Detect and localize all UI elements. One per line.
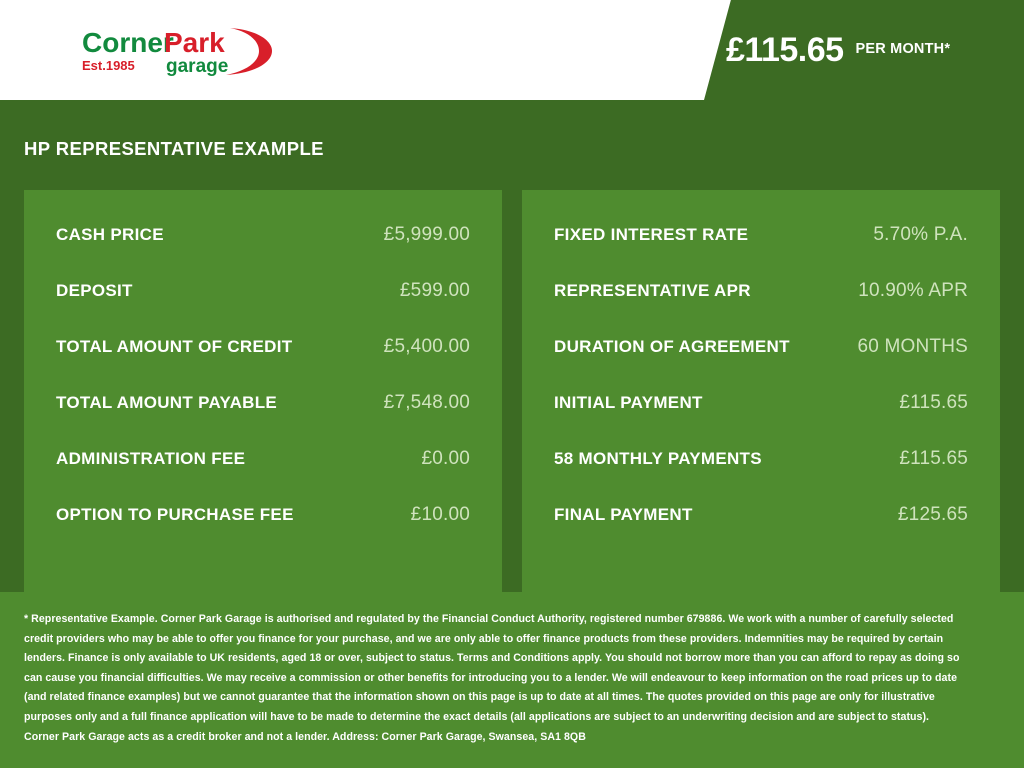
finance-left-row: OPTION TO PURCHASE FEE£10.00 bbox=[56, 504, 470, 560]
logo-word-garage: garage bbox=[166, 56, 228, 77]
finance-right-row: FINAL PAYMENT£125.65 bbox=[554, 504, 968, 560]
corner-park-garage-logo[interactable]: Corner Park Est.1985 garage bbox=[80, 22, 280, 80]
finance-right-row-label: INITIAL PAYMENT bbox=[554, 393, 703, 413]
finance-right-row-label: REPRESENTATIVE APR bbox=[554, 281, 751, 301]
finance-right-row: INITIAL PAYMENT£115.65 bbox=[554, 392, 968, 448]
finance-right-row-value: 5.70% P.A. bbox=[873, 224, 968, 246]
monthly-price-band: £115.65 PER MONTH* bbox=[704, 0, 1024, 100]
finance-right-row-label: 58 MONTHLY PAYMENTS bbox=[554, 449, 762, 469]
finance-card-left: CASH PRICE£5,999.00DEPOSIT£599.00TOTAL A… bbox=[24, 190, 502, 594]
page-footer: * Representative Example. Corner Park Ga… bbox=[0, 592, 1024, 768]
finance-left-row: CASH PRICE£5,999.00 bbox=[56, 224, 470, 280]
finance-right-row-value: 10.90% APR bbox=[858, 280, 968, 302]
finance-right-row-label: FIXED INTEREST RATE bbox=[554, 225, 748, 245]
logo-graphic: Corner Park Est.1985 garage bbox=[80, 22, 280, 80]
representative-example-disclaimer: * Representative Example. Corner Park Ga… bbox=[24, 610, 964, 747]
finance-left-row-label: ADMINISTRATION FEE bbox=[56, 449, 245, 469]
finance-left-row-value: £0.00 bbox=[421, 448, 470, 470]
finance-right-row-value: £115.65 bbox=[899, 448, 968, 470]
finance-left-row-value: £5,400.00 bbox=[384, 336, 470, 358]
logo-swoosh-icon bbox=[226, 28, 272, 75]
finance-right-row-value: £125.65 bbox=[898, 504, 968, 526]
page-header: Corner Park Est.1985 garage £115.65 PER … bbox=[0, 0, 1024, 100]
monthly-price-amount: £115.65 bbox=[726, 33, 844, 67]
finance-left-row: DEPOSIT£599.00 bbox=[56, 280, 470, 336]
finance-left-row-label: TOTAL AMOUNT OF CREDIT bbox=[56, 337, 292, 357]
finance-right-row-value: £115.65 bbox=[899, 392, 968, 414]
finance-left-row: TOTAL AMOUNT OF CREDIT£5,400.00 bbox=[56, 336, 470, 392]
finance-left-row-label: CASH PRICE bbox=[56, 225, 164, 245]
finance-left-row-label: OPTION TO PURCHASE FEE bbox=[56, 505, 294, 525]
finance-card-right: FIXED INTEREST RATE5.70% P.A.REPRESENTAT… bbox=[522, 190, 1000, 594]
finance-left-row-label: TOTAL AMOUNT PAYABLE bbox=[56, 393, 277, 413]
finance-left-row-value: £5,999.00 bbox=[384, 224, 470, 246]
finance-right-row: REPRESENTATIVE APR10.90% APR bbox=[554, 280, 968, 336]
finance-details-cards: CASH PRICE£5,999.00DEPOSIT£599.00TOTAL A… bbox=[24, 190, 1000, 594]
page-title: HP REPRESENTATIVE EXAMPLE bbox=[24, 100, 1000, 160]
finance-left-row: TOTAL AMOUNT PAYABLE£7,548.00 bbox=[56, 392, 470, 448]
finance-right-row: FIXED INTEREST RATE5.70% P.A. bbox=[554, 224, 968, 280]
finance-left-row-value: £599.00 bbox=[400, 280, 470, 302]
finance-right-row-label: DURATION OF AGREEMENT bbox=[554, 337, 790, 357]
finance-right-row-label: FINAL PAYMENT bbox=[554, 505, 693, 525]
logo-word-corner: Corner bbox=[82, 27, 174, 58]
monthly-price-period: PER MONTH* bbox=[856, 41, 951, 59]
logo-word-park: Park bbox=[164, 27, 225, 58]
finance-right-row: 58 MONTHLY PAYMENTS£115.65 bbox=[554, 448, 968, 504]
finance-left-row-value: £10.00 bbox=[411, 504, 470, 526]
finance-left-row-label: DEPOSIT bbox=[56, 281, 133, 301]
logo-established: Est.1985 bbox=[82, 58, 135, 73]
finance-left-row-value: £7,548.00 bbox=[384, 392, 470, 414]
main-content: HP REPRESENTATIVE EXAMPLE CASH PRICE£5,9… bbox=[0, 100, 1024, 592]
finance-example-page: Corner Park Est.1985 garage £115.65 PER … bbox=[0, 0, 1024, 768]
finance-right-row-value: 60 MONTHS bbox=[857, 336, 968, 358]
finance-left-row: ADMINISTRATION FEE£0.00 bbox=[56, 448, 470, 504]
finance-right-row: DURATION OF AGREEMENT60 MONTHS bbox=[554, 336, 968, 392]
